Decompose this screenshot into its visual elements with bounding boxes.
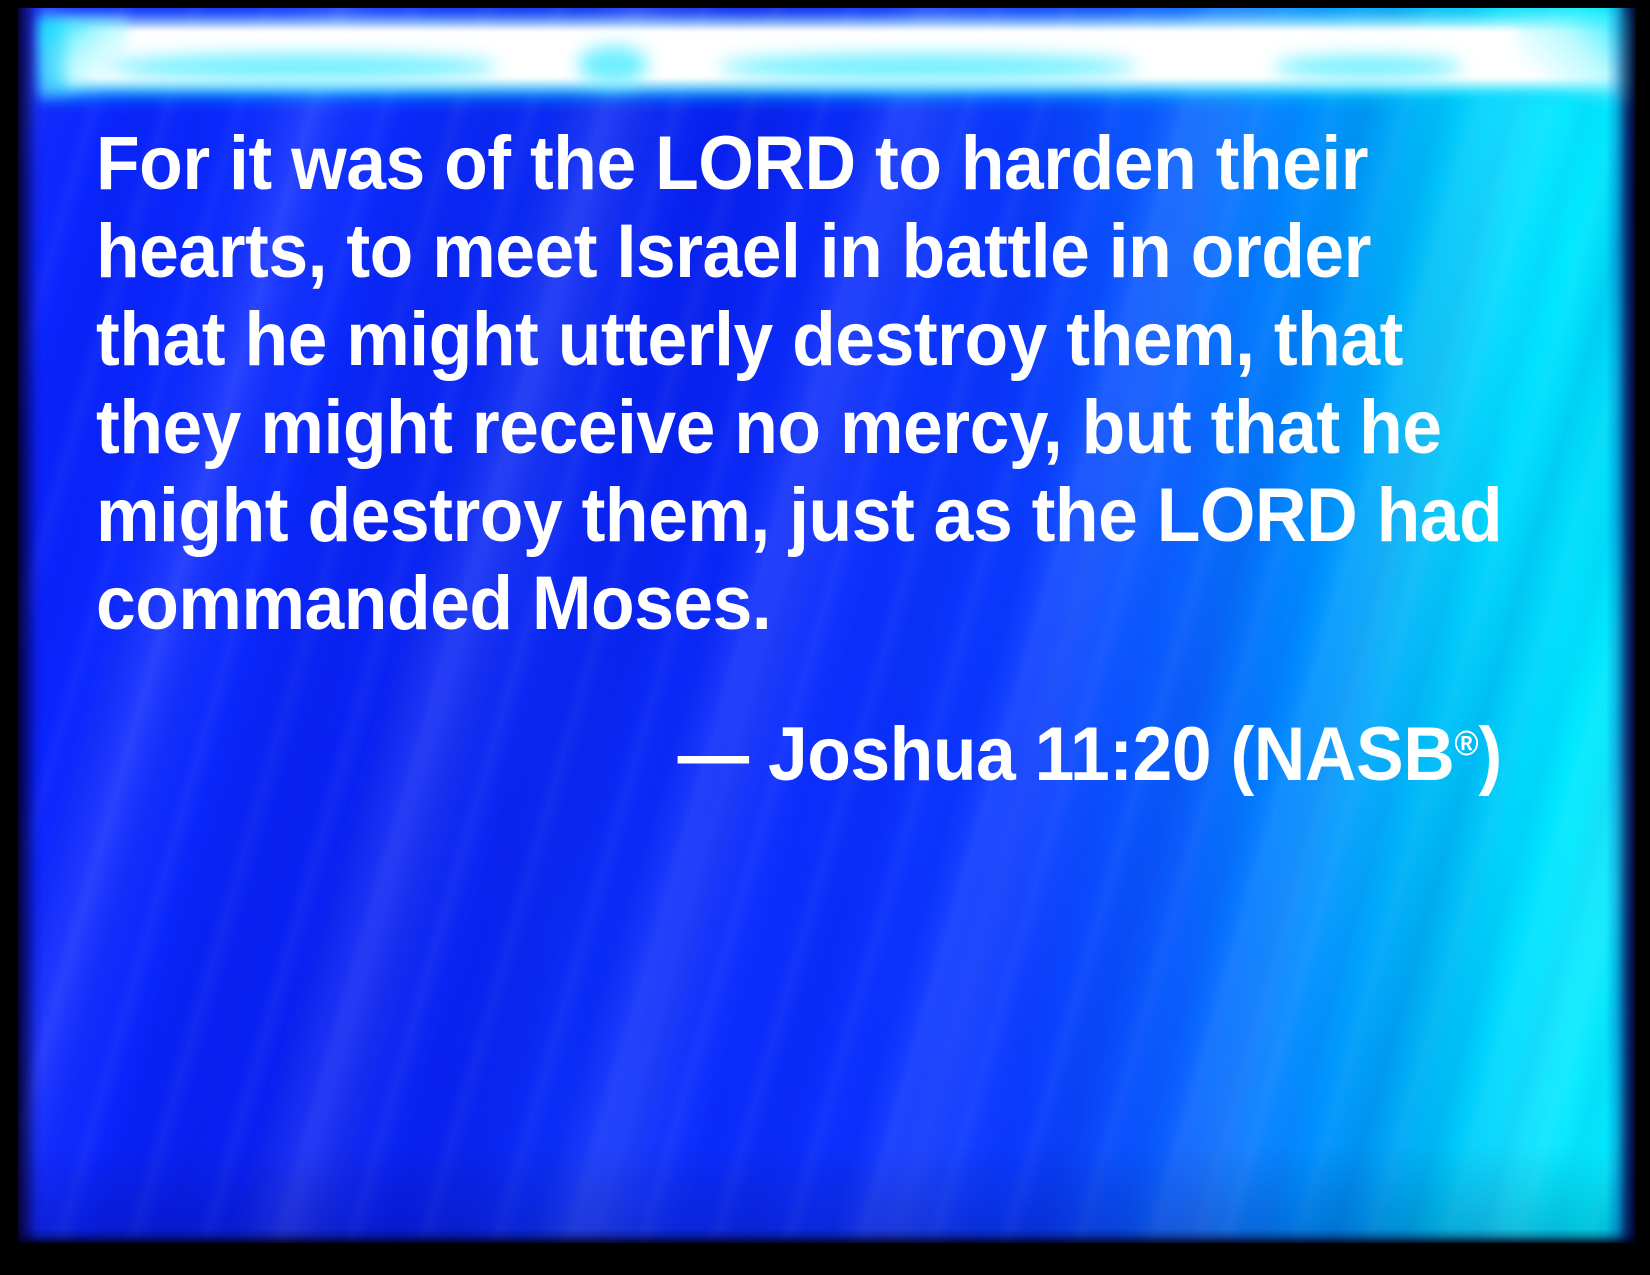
attribution-space [1015,712,1034,797]
attribution-space [749,712,768,797]
verse-line: that he might utterly destroy them, that [96,296,1431,384]
verse-text-block: For it was of the LORD to harden their h… [96,120,1516,799]
attribution-dash: — [678,712,749,797]
attribution-chapter-verse: 11:20 [1035,712,1211,797]
registered-trademark-icon: ® [1454,724,1478,763]
verse-line: might destroy them, just as the LORD had [96,472,1431,560]
verse-line: commanded Moses. [96,560,1431,648]
slide-frame: For it was of the LORD to harden their h… [0,0,1650,1275]
verse-line: For it was of the LORD to harden their [96,120,1431,208]
verse-attribution-inner: — Joshua 11:20 (NASB®) [678,700,1502,799]
attribution-space [1211,712,1230,797]
attribution-book: Joshua [768,712,1015,797]
verse-line: they might receive no mercy, but that he [96,384,1431,472]
attribution-translation-close: ) [1479,712,1502,797]
verse-canvas: For it was of the LORD to harden their h… [18,8,1636,1243]
verse-attribution: — Joshua 11:20 (NASB®) [96,648,1516,799]
verse-line: hearts, to meet Israel in battle in orde… [96,208,1431,296]
attribution-translation-open: (NASB [1231,712,1455,797]
